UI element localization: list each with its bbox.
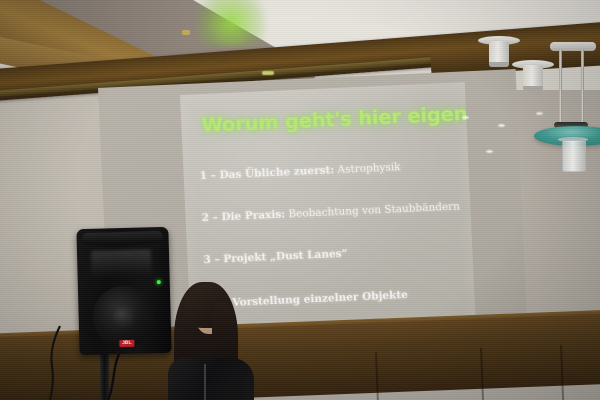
slide-bullet-3-marker: 3 – <box>203 253 223 266</box>
photo-scene: Worum geht's hier eigentlich? 1 – Das Üb… <box>0 0 600 400</box>
speaker-handle <box>82 231 162 245</box>
speaker-dustcap <box>112 306 135 329</box>
slide-bullet-2-bold: Die Praxis: <box>221 208 285 223</box>
pendant-diffuser <box>562 140 586 172</box>
slide-bullet-3-bold: Projekt „Dust Lanes“ <box>223 248 348 266</box>
ceiling-reflection <box>498 124 505 127</box>
jbl-logo-icon: JBL <box>119 340 134 347</box>
downlight-can <box>523 65 543 91</box>
slide-bullet-2: 2 – Die Praxis: Beobachtung von Staubbän… <box>201 200 460 224</box>
laser-glow <box>196 0 266 46</box>
slide-title: Worum geht's hier eigentlich? <box>201 99 476 137</box>
ceiling-reflection <box>486 150 493 153</box>
slide-bullet-2-rest: Beobachtung von Staubbändern <box>285 200 460 220</box>
ceiling-reflection <box>462 116 469 119</box>
speaker-horn <box>91 249 152 277</box>
ceiling-reflection <box>536 112 543 115</box>
downlight-can <box>489 41 509 67</box>
presenter-jacket-zip <box>204 364 206 400</box>
slide-bullet-1-marker: 1 – <box>199 169 219 182</box>
pa-speaker: JBL <box>76 227 171 355</box>
slide-bullet-1: 1 – Das Übliche zuerst: Astrophysik <box>199 161 400 182</box>
pendant-rod <box>581 49 584 125</box>
slide-bullet-3: 3 – Projekt „Dust Lanes“ <box>203 248 348 267</box>
slide-bullet-1-rest: Astrophysik <box>334 161 401 176</box>
slide-bullet-1-bold: Das Übliche zuerst: <box>219 164 334 181</box>
ceiling-fitting-icon <box>182 30 190 35</box>
presenter <box>160 282 264 400</box>
pendant-lamp <box>548 42 600 172</box>
presenter-jacket <box>168 358 254 400</box>
crown-reflection <box>262 71 274 75</box>
slide-bullet-2-marker: 2 – <box>201 211 221 224</box>
pendant-rod <box>559 49 562 125</box>
pendant-ceiling-plate <box>550 42 596 51</box>
